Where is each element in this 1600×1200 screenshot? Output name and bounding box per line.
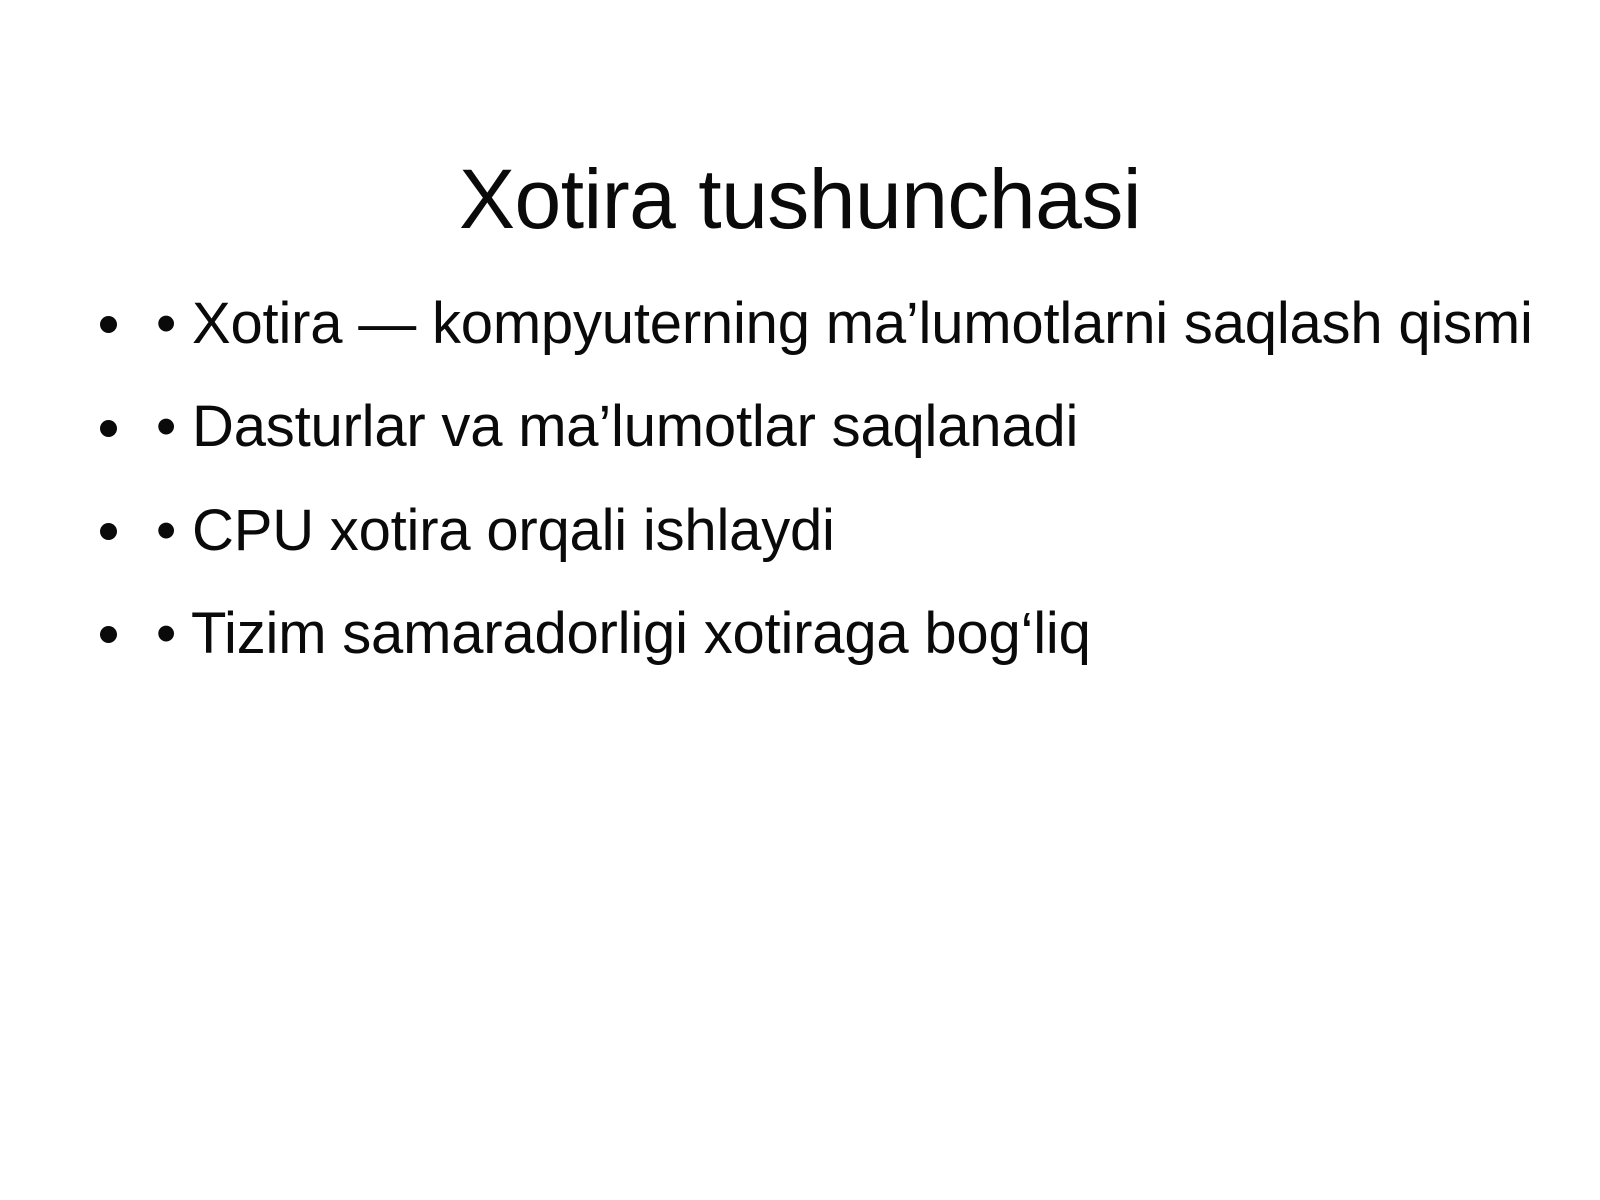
page-title: Xotira tushunchasi: [0, 152, 1600, 246]
bullet-marker-icon: [100, 523, 117, 540]
presentation-slide: Xotira tushunchasi • Xotira — kompyutern…: [0, 0, 1600, 1200]
list-item-label: • CPU xotira orqali ishlaydi: [156, 493, 1548, 568]
list-item: • Xotira — kompyuterning ma’lumotlarni s…: [78, 286, 1548, 361]
list-item: • Dasturlar va ma’lumotlar saqlanadi: [78, 389, 1548, 464]
list-item-label: • Xotira — kompyuterning ma’lumotlarni s…: [156, 286, 1548, 361]
bullet-marker-icon: [100, 420, 117, 437]
slide-body-content: • Xotira — kompyuterning ma’lumotlarni s…: [78, 286, 1548, 672]
list-item: • Tizim samaradorligi xotiraga bog‘liq: [78, 596, 1548, 671]
bullet-marker-icon: [100, 626, 117, 643]
list-item-label: • Dasturlar va ma’lumotlar saqlanadi: [156, 389, 1548, 464]
bullet-list: • Xotira — kompyuterning ma’lumotlarni s…: [78, 286, 1548, 672]
list-item-label: • Tizim samaradorligi xotiraga bog‘liq: [156, 596, 1548, 671]
bullet-marker-icon: [100, 316, 117, 333]
list-item: • CPU xotira orqali ishlaydi: [78, 493, 1548, 568]
